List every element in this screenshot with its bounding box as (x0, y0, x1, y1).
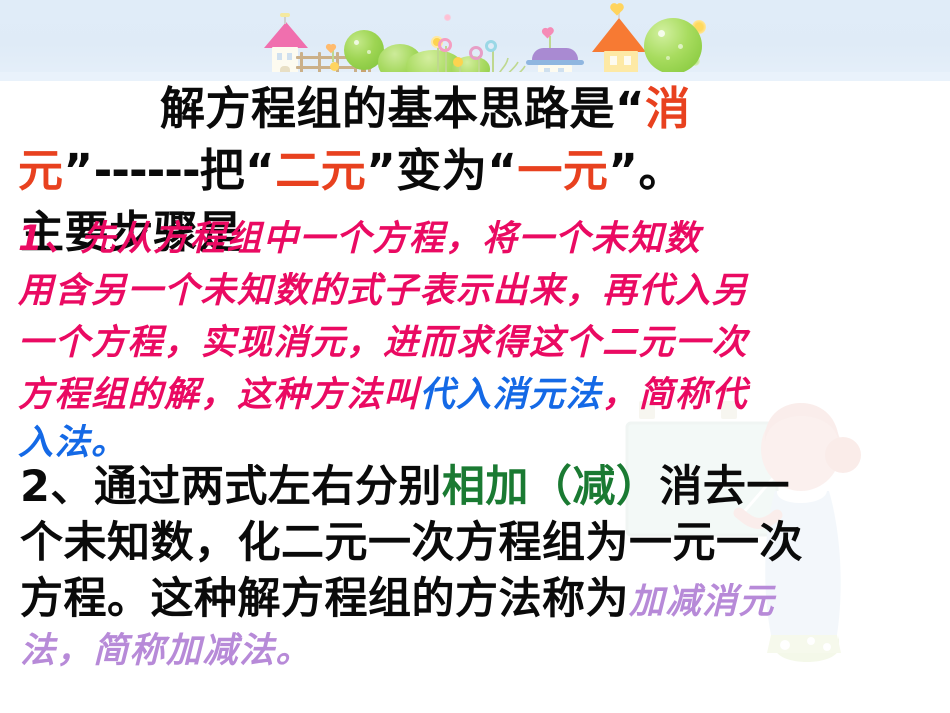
heading-line2-seg7: 一元 (517, 144, 608, 197)
heading-line2-seg8: ”。 (608, 144, 684, 197)
step2-line3-term-elimination: 加减消元 (629, 582, 775, 622)
step2-line1-seg3: 消去一 (659, 462, 790, 512)
step2-line4-seg1: 法，简称加减法。 (20, 631, 312, 671)
pink-dot-icon (444, 14, 451, 21)
heading-line1-seg2: 消 (645, 82, 691, 135)
step1-line1-seg1: 1、先从方程组中一个方程，将一个未知数 (18, 219, 701, 259)
step2-line-3: 方程。这种解方程组的方法称为加减消元 (20, 564, 775, 626)
heading-line2-seg5: 二元 (275, 144, 366, 197)
step1-line4-term-substitution: 代入消元法 (420, 375, 603, 415)
slide-canvas: 解方程组的基本思路是“消 元”------把“二元”变为“一元”。 主要步骤是 … (0, 0, 950, 713)
step1-line-3: 一个方程，实现消元，进而求得这个二元一次 (18, 314, 748, 365)
heart-ornament-icon (326, 42, 338, 62)
heading-line2-seg2: ” (64, 144, 94, 197)
decorative-village-banner (0, 0, 950, 81)
step2-line1-term-add-subtract: 相加（减） (442, 462, 660, 512)
step1-line4-seg1: 方程组的解，这种方法叫 (18, 375, 420, 415)
heading-line2-seg4: 把“ (200, 144, 276, 197)
yellow-dot-icon (330, 62, 339, 71)
step2-line1-seg1: 2、通过两式左右分别 (20, 462, 442, 512)
heading-line2-seg1: 元 (18, 144, 64, 197)
green-tree-icon (640, 18, 710, 80)
heart-ornament-icon (611, 4, 622, 15)
step2-line3-seg1: 方程。这种解方程组的方法称为 (20, 574, 629, 624)
step1-line4-seg3: ，简称代 (602, 375, 748, 415)
heading-line2-seg6: ”变为“ (366, 144, 517, 197)
heading-line-2: 元”------把“二元”变为“一元”。 (18, 134, 684, 199)
step1-line2-seg1: 用含另一个未知数的式子表示出来，再代入另 (18, 271, 748, 311)
heading-line-1: 解方程组的基本思路是“消 (160, 72, 691, 137)
step2-line-1: 2、通过两式左右分别相加（减）消去一 (20, 452, 790, 514)
step1-line-2: 用含另一个未知数的式子表示出来，再代入另 (18, 262, 748, 313)
step1-line-1: 1、先从方程组中一个方程，将一个未知数 (18, 210, 701, 261)
step1-line3-seg1: 一个方程，实现消元，进而求得这个二元一次 (18, 323, 748, 363)
step2-line-2: 个未知数，化二元一次方程组为一元一次 (20, 508, 803, 570)
heading-line1-seg1: 解方程组的基本思路是“ (160, 82, 645, 135)
step2-line2-seg1: 个未知数，化二元一次方程组为一元一次 (20, 518, 803, 568)
step2-line-4: 法，简称加减法。 (20, 622, 312, 673)
heading-dashes: ------ (94, 144, 200, 197)
step1-line-4: 方程组的解，这种方法叫代入消元法，简称代 (18, 366, 748, 417)
